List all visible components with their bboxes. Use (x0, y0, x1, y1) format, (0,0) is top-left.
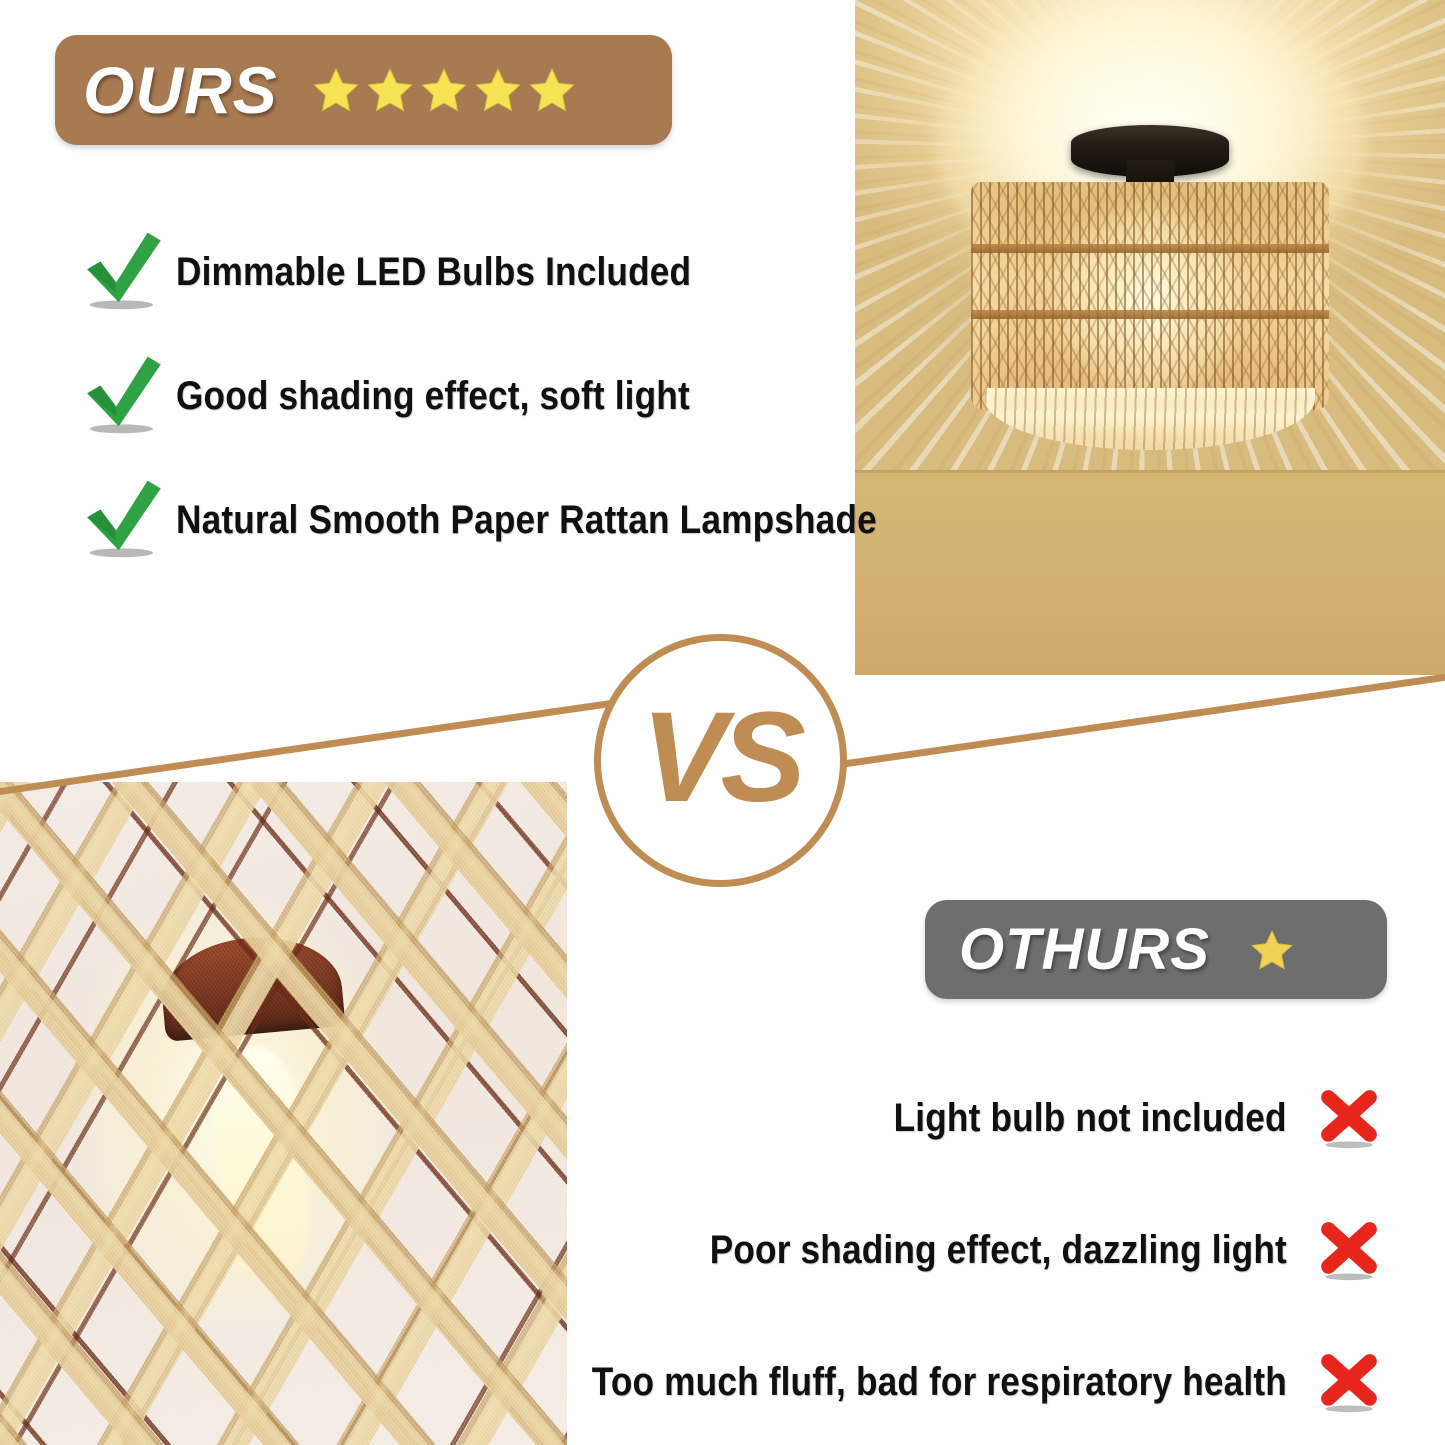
lampshade-band-top (971, 244, 1329, 253)
feature-label: Too much fluff, bad for respiratory heal… (592, 1360, 1287, 1405)
cross-icon (1301, 1349, 1397, 1415)
lower-wall (855, 470, 1445, 675)
ours-badge: OURS (55, 35, 672, 145)
cross-icon (1316, 1085, 1382, 1151)
feature-label: Poor shading effect, dazzling light (710, 1228, 1287, 1273)
feature-label: Good shading effect, soft light (176, 374, 690, 419)
star-icon (1250, 928, 1294, 972)
star-icon (420, 66, 468, 114)
check-icon (72, 354, 176, 438)
vs-label: VS (641, 694, 800, 822)
ours-feature-list: Dimmable LED Bulbs Included Good shading… (72, 210, 862, 582)
lampshade-bottom-diffuser (985, 388, 1315, 450)
competitor-lampshade-closeup (0, 782, 567, 1445)
list-item: Natural Smooth Paper Rattan Lampshade (72, 458, 862, 582)
star-icon (474, 66, 522, 114)
list-item: Too much fluff, bad for respiratory heal… (537, 1316, 1397, 1445)
divider-line-right (826, 672, 1445, 770)
others-badge-label: OTHURS (959, 916, 1210, 983)
others-star-rating (1250, 928, 1294, 972)
list-item: Good shading effect, soft light (72, 334, 862, 458)
lampshade-band-bottom (971, 310, 1329, 319)
feature-label: Natural Smooth Paper Rattan Lampshade (176, 498, 877, 543)
cross-icon (1316, 1349, 1382, 1415)
lampshade-body (971, 182, 1329, 410)
star-icon (528, 66, 576, 114)
ours-badge-label: OURS (83, 52, 278, 128)
check-icon (82, 478, 166, 562)
competitor-fluff-halo (0, 782, 567, 1445)
feature-label: Dimmable LED Bulbs Included (176, 250, 691, 295)
list-item: Light bulb not included (537, 1052, 1397, 1184)
cross-icon (1301, 1085, 1397, 1151)
others-feature-list: Light bulb not included Poor shading eff… (537, 1052, 1397, 1445)
feature-label: Light bulb not included (894, 1096, 1287, 1141)
vs-badge: VS (594, 634, 847, 887)
list-item: Dimmable LED Bulbs Included (72, 210, 862, 334)
list-item: Poor shading effect, dazzling light (537, 1184, 1397, 1316)
lampshade-weave-cross (971, 182, 1329, 410)
star-icon (312, 66, 360, 114)
others-product-photo (0, 782, 567, 1445)
others-badge: OTHURS (925, 900, 1387, 999)
rattan-lampshade (971, 182, 1329, 450)
check-icon (82, 230, 166, 314)
ours-product-photo (855, 0, 1445, 675)
star-icon (366, 66, 414, 114)
comparison-infographic: VS OURS Dimmable LED Bulbs Included (0, 0, 1445, 1445)
check-icon (82, 354, 166, 438)
cross-icon (1301, 1217, 1397, 1283)
check-icon (72, 230, 176, 314)
check-icon (72, 478, 176, 562)
ours-star-rating (312, 66, 576, 114)
cross-icon (1316, 1217, 1382, 1283)
wall-seam (855, 470, 1445, 473)
